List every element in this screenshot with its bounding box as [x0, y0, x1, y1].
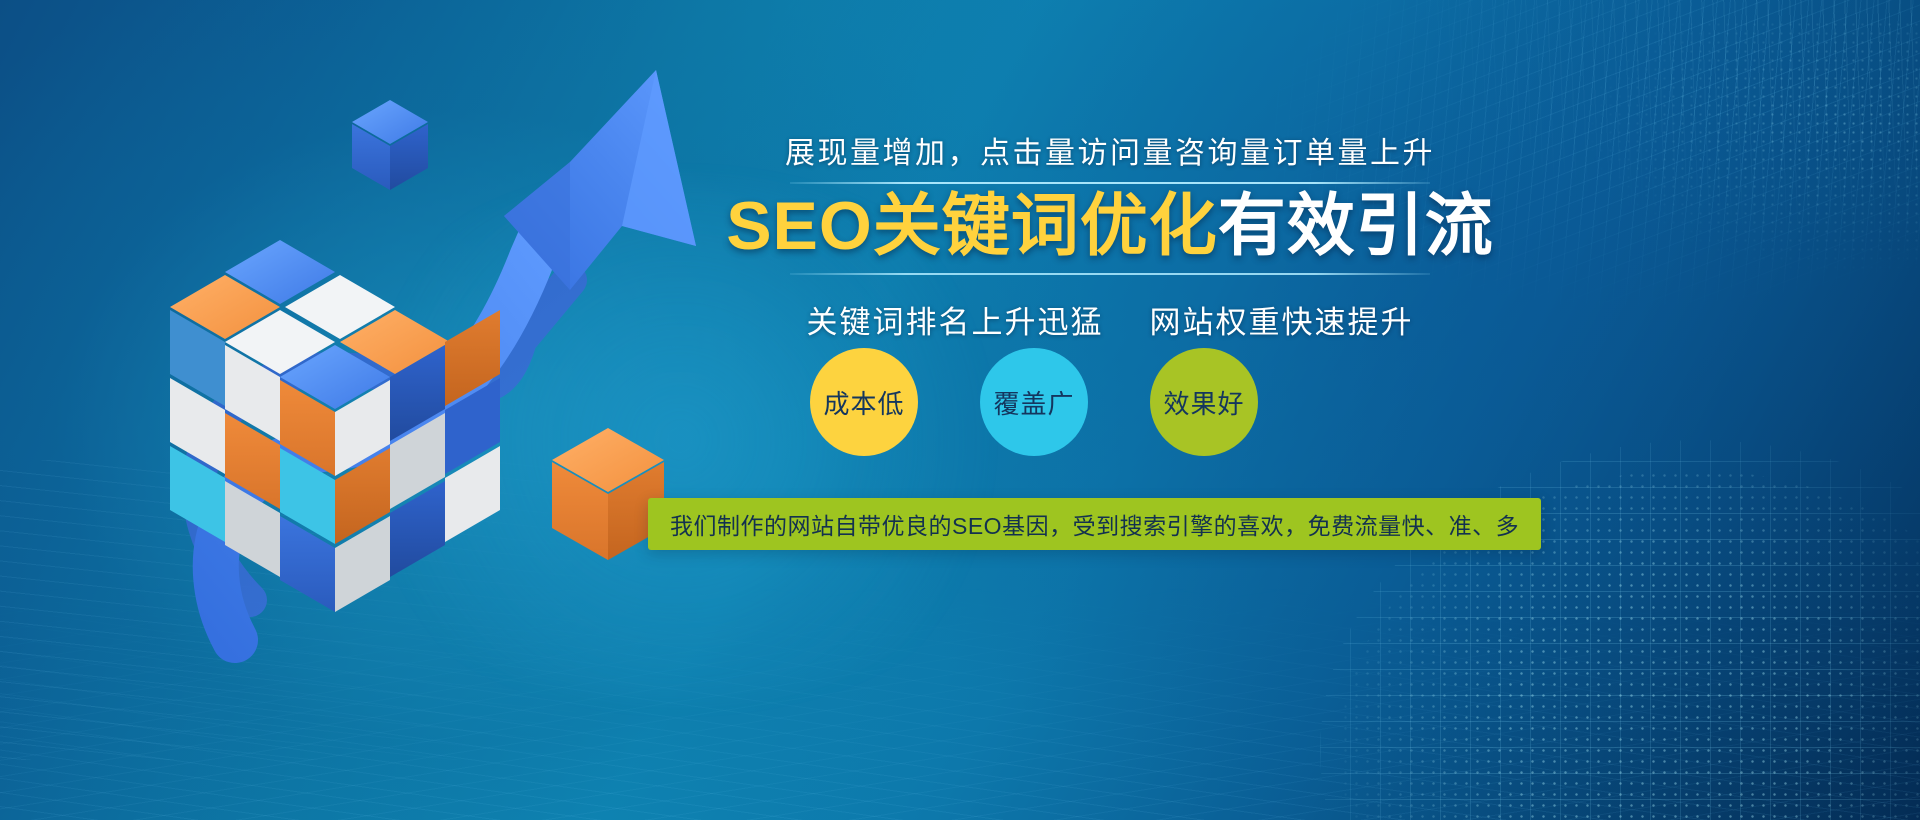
headline-rest: 有效引流	[1218, 188, 1494, 264]
banner-headline: SEO关键词优化有效引流	[700, 190, 1520, 263]
feature-badges: 成本低 覆盖广 效果好	[810, 348, 1370, 460]
seo-promo-banner: 展现量增加，点击量访问量咨询量订单量上升 SEO关键词优化有效引流 关键词排名上…	[0, 0, 1920, 820]
headline-highlight: SEO关键词优化	[726, 188, 1218, 264]
badge-coverage[interactable]: 覆盖广	[980, 348, 1088, 456]
banner-copy: 展现量增加，点击量访问量咨询量订单量上升 SEO关键词优化有效引流 关键词排名上…	[700, 128, 1520, 342]
floating-cube-blue-icon	[352, 100, 428, 190]
hero-illustration	[100, 40, 740, 680]
divider-top	[790, 182, 1430, 184]
badge-cost-low[interactable]: 成本低	[810, 348, 918, 456]
banner-subline: 关键词排名上升迅猛网站权重快速提升	[700, 297, 1520, 342]
footer-highlight-bar: 我们制作的网站自带优良的SEO基因，受到搜索引擎的喜欢，免费流量快、准、多	[648, 498, 1541, 550]
badge-effect[interactable]: 效果好	[1150, 348, 1258, 456]
footer-highlight-text: 我们制作的网站自带优良的SEO基因，受到搜索引擎的喜欢，免费流量快、准、多	[670, 507, 1519, 541]
subline-right: 网站权重快速提升	[1150, 305, 1414, 340]
subline-left: 关键词排名上升迅猛	[807, 305, 1104, 340]
banner-kicker: 展现量增加，点击量访问量咨询量订单量上升	[700, 128, 1520, 172]
divider-bottom	[790, 273, 1430, 275]
